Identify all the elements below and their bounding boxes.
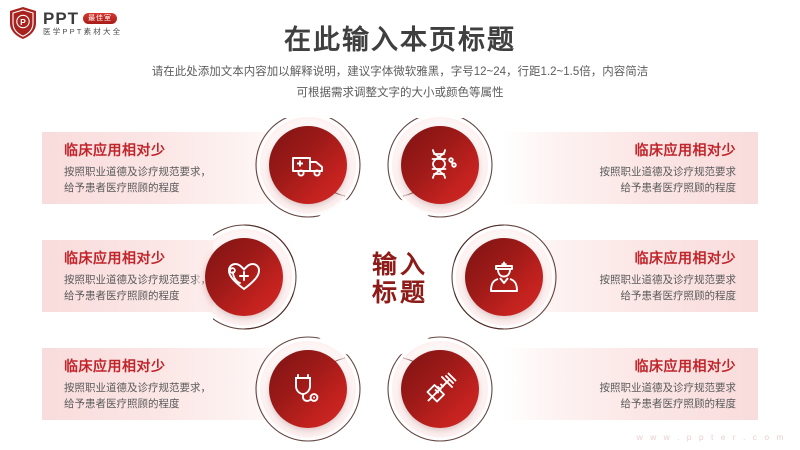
dna-helix-icon [421,146,459,184]
diagram-cluster: 输入 标题 [213,118,587,442]
center-title-line-1: 输入 [372,251,428,279]
icon-node-heart-care[interactable] [205,238,283,316]
icon-node-ambulance[interactable] [269,126,347,204]
ambulance-icon [289,146,327,184]
page-subtitle: 请在此处添加文本内容加以解释说明，建议字体微软雅黑，字号12~24，行距1.2~… [0,62,800,105]
doctor-icon [485,258,523,296]
footer-watermark: w w w . p p t e r . c o m [637,432,786,442]
subtitle-line-1: 请在此处添加文本内容加以解释说明，建议字体微软雅黑，字号12~24，行距1.2~… [0,62,800,83]
slide-canvas: P PPT 最佳室 医学PPT素材大全 在此输入本页标题 请在此处添加文本内容加… [0,0,800,450]
syringe-icon [421,370,459,408]
center-title-line-2: 标题 [372,279,428,307]
icon-node-syringe[interactable] [401,350,479,428]
icon-node-dna[interactable] [401,126,479,204]
icon-node-doctor[interactable] [465,238,543,316]
icon-node-stethoscope[interactable] [269,350,347,428]
subtitle-line-2: 可根据需求调整文字的大小或颜色等属性 [0,83,800,104]
stethoscope-icon [289,370,327,408]
center-title[interactable]: 输入 标题 [325,224,475,334]
page-title: 在此输入本页标题 [0,18,800,57]
heart-stethoscope-icon [225,258,263,296]
